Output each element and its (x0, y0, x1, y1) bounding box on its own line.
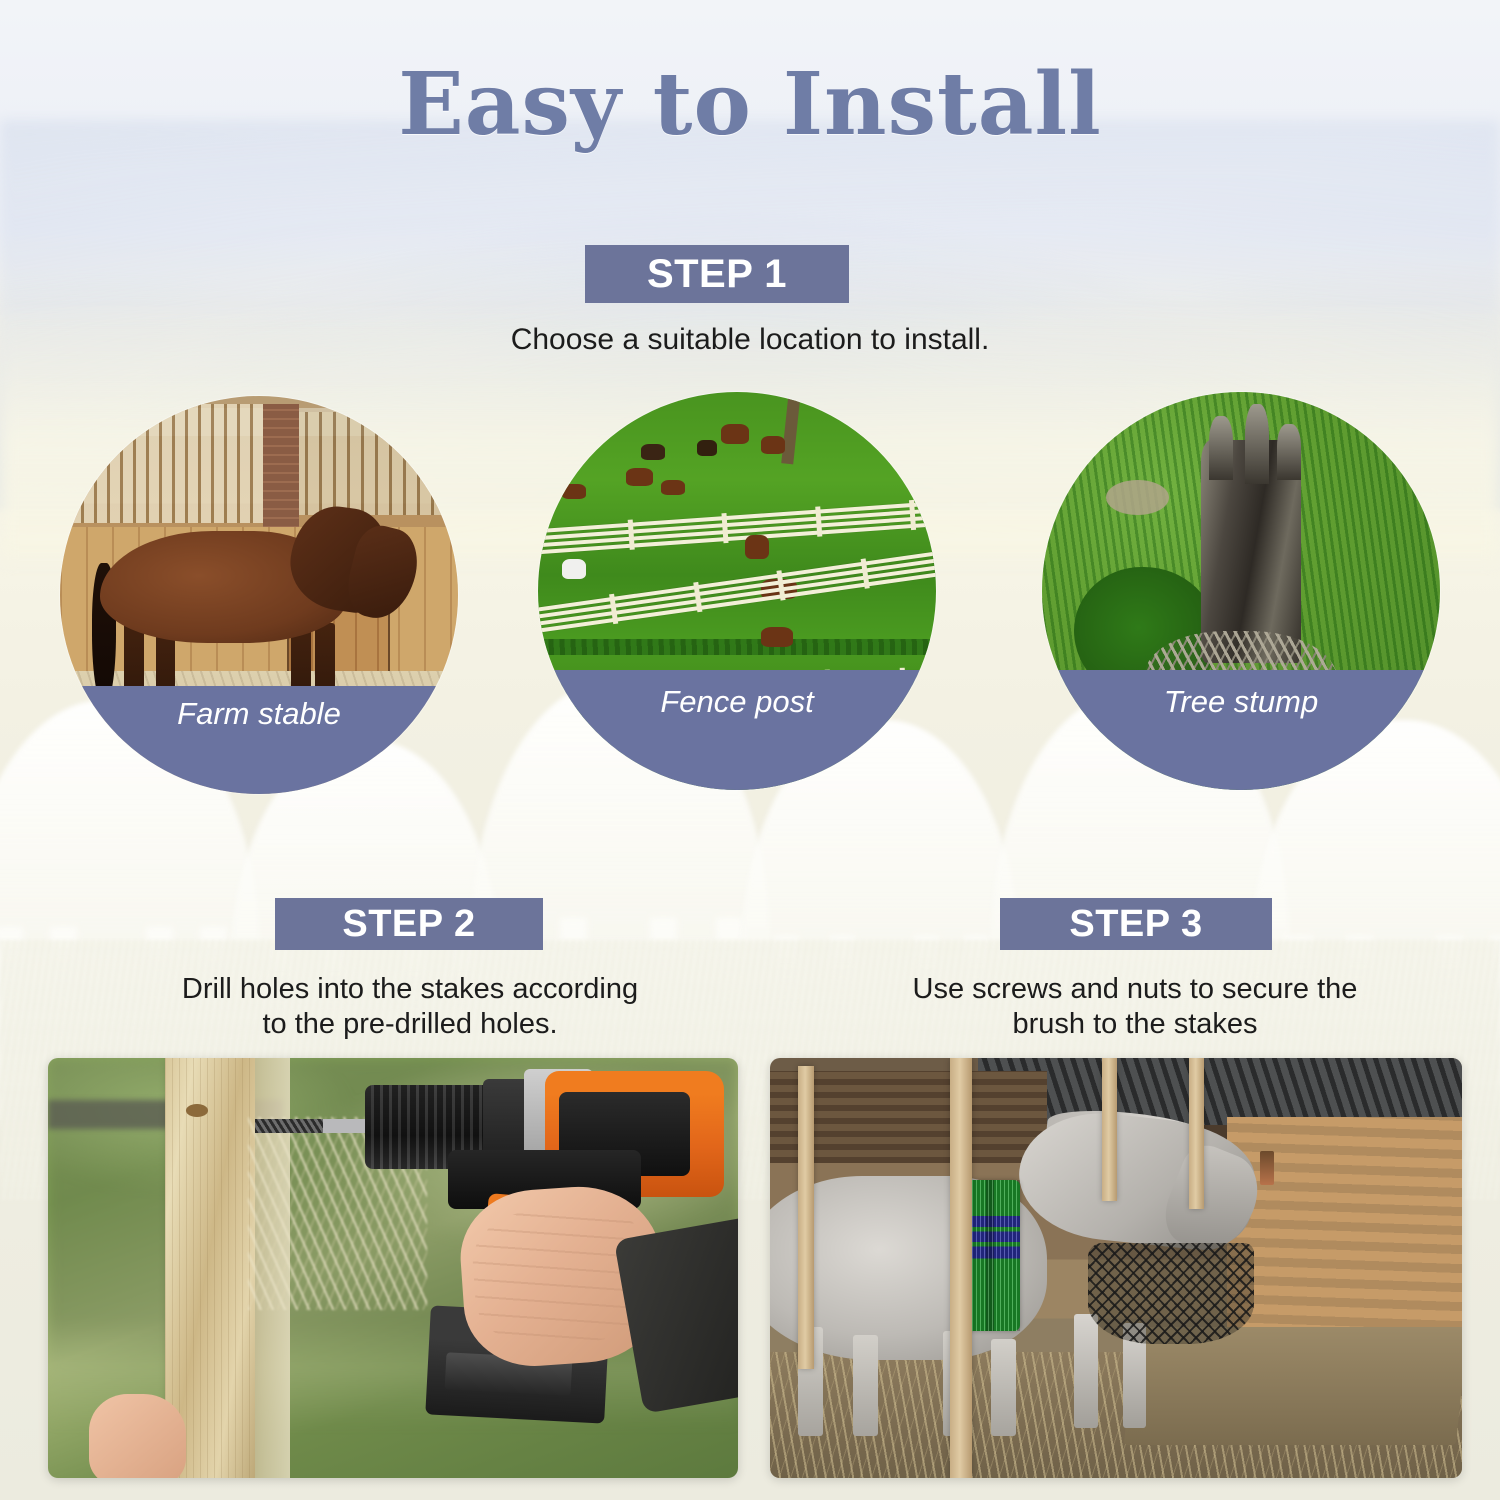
step-2-caption-line2: to the pre-drilled holes. (120, 1007, 700, 1042)
step-2-photo-drilling (48, 1058, 738, 1478)
location-label-tree-stump: Tree stump (1042, 670, 1440, 790)
step-1-caption: Choose a suitable location to install. (300, 322, 1200, 358)
location-card-farm-stable: Farm stable (60, 396, 458, 794)
location-card-fence-post: Fence post (538, 392, 936, 790)
step-3-badge: STEP 3 (1000, 898, 1272, 950)
step-3-caption-line2: brush to the stakes (850, 1007, 1420, 1042)
location-card-tree-stump: Tree stump (1042, 392, 1440, 790)
step-2-badge: STEP 2 (275, 898, 543, 950)
step-3-caption: Use screws and nuts to secure the brush … (850, 972, 1420, 1042)
step-3-caption-line1: Use screws and nuts to secure the (850, 972, 1420, 1007)
step-3-photo-brush-installed (770, 1058, 1462, 1478)
step-2-caption-line1: Drill holes into the stakes according (120, 972, 700, 1007)
infographic-canvas: Easy to Install STEP 1 Choose a suitable… (0, 0, 1500, 1500)
page-title: Easy to Install (0, 62, 1500, 148)
step-2-caption: Drill holes into the stakes according to… (120, 972, 700, 1042)
step-1-badge: STEP 1 (585, 245, 849, 303)
location-label-farm-stable: Farm stable (60, 686, 458, 794)
location-label-fence-post: Fence post (538, 670, 936, 790)
